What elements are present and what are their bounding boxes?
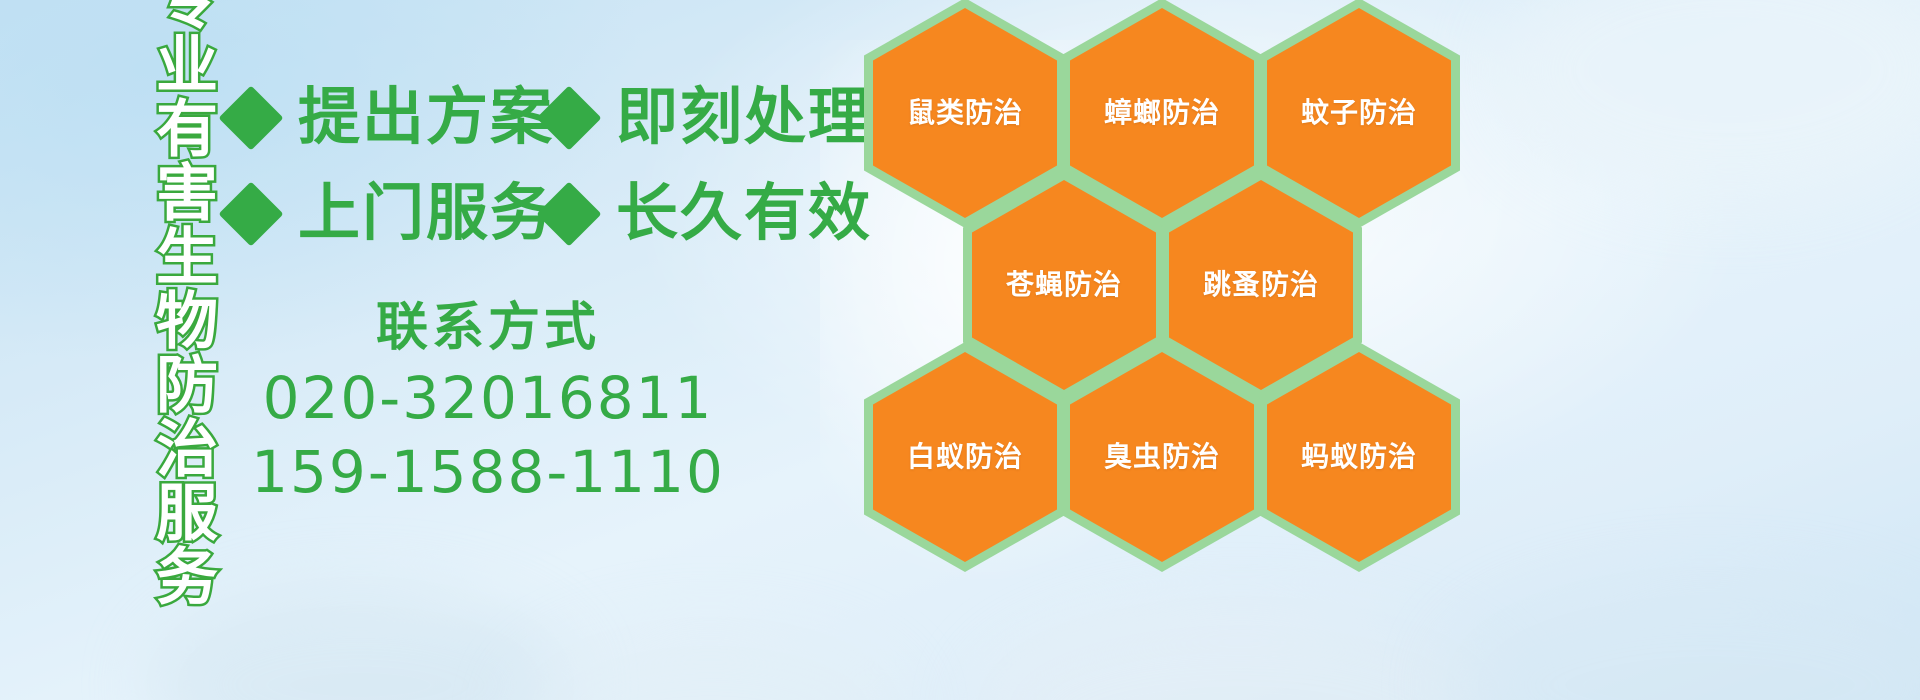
contact-block: 联系方式 020-32016811 159-1588-1110 (228, 296, 748, 509)
feature-row-2: 上门服务 长久有效 (228, 166, 868, 262)
service-hex-termite[interactable]: 白蚁防治 (864, 342, 1066, 572)
service-hex-ant[interactable]: 蚂蚁防治 (1258, 342, 1460, 572)
feature-label: 即刻处理 (616, 87, 872, 149)
service-hex-bedbug[interactable]: 臭虫防治 (1061, 342, 1263, 572)
background-blur-blob (980, 610, 1500, 700)
feature-label: 提出方案 (298, 87, 554, 149)
pest-control-banner: 专业有害生物防治服务 提出方案 即刻处理 上门服务 长久有效 联系方式 (0, 0, 1920, 700)
service-label: 臭虫防治 (1104, 443, 1220, 471)
service-label: 鼠类防治 (907, 99, 1023, 127)
service-honeycomb: 鼠类防治 蟑螂防治 蚊子防治 苍蝇防治 跳蚤防治 (858, 0, 1458, 562)
feature-item-long-lasting-effect: 长久有效 (546, 183, 872, 245)
feature-item-door-to-door-service: 上门服务 (228, 183, 546, 245)
vertical-headline: 专业有害生物防治服务 (108, 18, 212, 558)
diamond-bullet-icon (218, 181, 283, 246)
service-label: 蚊子防治 (1301, 99, 1417, 127)
diamond-bullet-icon (218, 85, 283, 150)
feature-row-1: 提出方案 即刻处理 (228, 70, 868, 166)
feature-label: 上门服务 (298, 183, 554, 245)
phone-landline[interactable]: 020-32016811 (228, 361, 748, 435)
feature-item-propose-plan: 提出方案 (228, 87, 546, 149)
feature-label: 长久有效 (616, 183, 872, 245)
diamond-bullet-icon (536, 181, 601, 246)
service-label: 蚂蚁防治 (1301, 443, 1417, 471)
feature-item-immediate-handling: 即刻处理 (546, 87, 872, 149)
background-blur-blob (1450, 580, 1920, 700)
background-blur-blob (520, 630, 900, 700)
service-label: 白蚁防治 (907, 443, 1023, 471)
background-blur-blob (1500, 0, 1920, 200)
service-label: 跳蚤防治 (1203, 271, 1319, 299)
diamond-bullet-icon (536, 85, 601, 150)
contact-title: 联系方式 (228, 296, 748, 361)
phone-mobile[interactable]: 159-1588-1110 (228, 435, 748, 509)
middle-content: 提出方案 即刻处理 上门服务 长久有效 联系方式 020-32016811 15… (228, 70, 868, 590)
service-label: 苍蝇防治 (1006, 271, 1122, 299)
service-label: 蟑螂防治 (1104, 99, 1220, 127)
